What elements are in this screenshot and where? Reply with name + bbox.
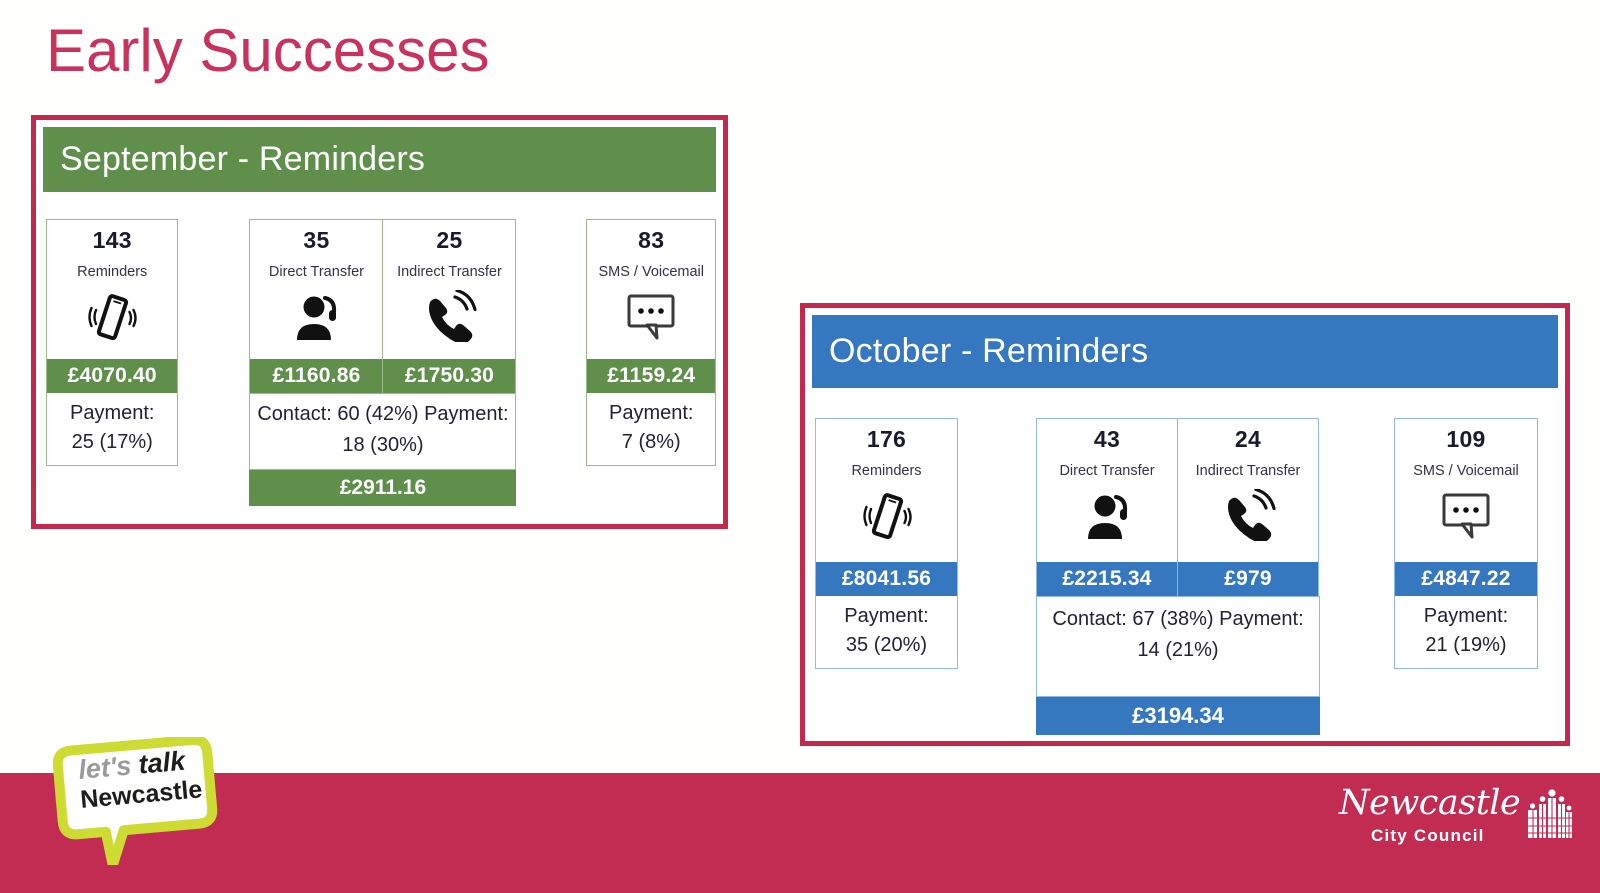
october-reminders-amount: £8041.56 bbox=[816, 562, 957, 596]
october-direct-transfer-label: Direct Transfer bbox=[1059, 463, 1154, 479]
card-top: 25 Indirect Transfer bbox=[383, 220, 515, 359]
card-top: 35 Direct Transfer bbox=[250, 220, 382, 359]
castle-crest-icon bbox=[1526, 788, 1574, 840]
september-sms-card: 83 SMS / Voicemail £1159.24 Payment: 7 (… bbox=[586, 219, 716, 466]
september-direct-transfer-label: Direct Transfer bbox=[269, 264, 364, 280]
september-sms-amount: £1159.24 bbox=[587, 359, 715, 393]
september-sms-count: 83 bbox=[638, 229, 664, 252]
october-sms-card: 109 SMS / Voicemail £4847.22 Payment: 21… bbox=[1394, 418, 1538, 669]
october-direct-transfer-count: 43 bbox=[1094, 428, 1120, 451]
september-reminders-payment: Payment: 25 (17%) bbox=[47, 393, 177, 465]
payment-value: 35 (20%) bbox=[818, 631, 955, 660]
october-reminders-payment: Payment: 35 (20%) bbox=[816, 596, 957, 668]
headset-agent-icon bbox=[1080, 487, 1134, 543]
lets-word: let's bbox=[77, 750, 132, 785]
september-indirect-transfer-amount: £1750.30 bbox=[383, 359, 515, 393]
october-sms-payment: Payment: 21 (19%) bbox=[1395, 596, 1537, 668]
october-indirect-transfer-label: Indirect Transfer bbox=[1196, 463, 1301, 479]
september-sms-payment: Payment: 7 (8%) bbox=[587, 393, 715, 465]
october-card-row: 176 Reminders bbox=[812, 418, 1558, 735]
september-transfer-total: £2911.16 bbox=[249, 470, 516, 506]
october-panel-header: October - Reminders bbox=[812, 315, 1558, 388]
october-transfer-pair: 43 Direct Transfer £2215.34 bbox=[1036, 418, 1320, 597]
headset-agent-icon bbox=[289, 288, 343, 344]
page-title: Early Successes bbox=[46, 18, 490, 84]
october-indirect-transfer-card: 24 Indirect Transfer £ bbox=[1177, 418, 1319, 597]
ringing-handset-icon bbox=[421, 288, 477, 344]
october-sms-label: SMS / Voicemail bbox=[1413, 463, 1519, 479]
newcastle-city-council-logo: Newcastle City Council bbox=[1339, 786, 1574, 856]
lets-talk-text: let's talk Newcastle bbox=[47, 730, 226, 831]
september-indirect-transfer-label: Indirect Transfer bbox=[397, 264, 502, 280]
october-transfer-contact: Contact: 67 (38%) bbox=[1052, 608, 1213, 630]
october-direct-transfer-card: 43 Direct Transfer £2215.34 bbox=[1036, 418, 1178, 597]
october-indirect-transfer-count: 24 bbox=[1235, 428, 1261, 451]
october-sms-amount: £4847.22 bbox=[1395, 562, 1537, 596]
october-header-label: October - Reminders bbox=[829, 332, 1148, 371]
september-panel-header: September - Reminders bbox=[43, 127, 716, 192]
september-reminders-label: Reminders bbox=[77, 264, 147, 280]
october-panel: October - Reminders 176 Reminders bbox=[800, 303, 1570, 746]
october-reminders-card: 176 Reminders bbox=[815, 418, 958, 669]
card-top: 83 SMS / Voicemail bbox=[587, 220, 715, 359]
ringing-handset-icon bbox=[1220, 487, 1276, 543]
september-reminders-count: 143 bbox=[93, 229, 132, 252]
payment-label: Payment: bbox=[818, 602, 955, 631]
council-wordmark: Newcastle bbox=[1339, 786, 1515, 821]
september-indirect-transfer-card: 25 Indirect Transfer £ bbox=[382, 219, 516, 394]
september-header-label: September - Reminders bbox=[60, 140, 425, 179]
card-top: 43 Direct Transfer bbox=[1037, 419, 1177, 562]
card-top: 109 SMS / Voicemail bbox=[1395, 419, 1537, 562]
payment-label: Payment: bbox=[49, 399, 175, 428]
october-direct-transfer-amount: £2215.34 bbox=[1037, 562, 1177, 596]
september-indirect-transfer-count: 25 bbox=[436, 229, 462, 252]
vibrating-phone-icon bbox=[860, 487, 914, 543]
september-direct-transfer-card: 35 Direct Transfer £1160.86 bbox=[249, 219, 383, 394]
october-transfer-group: 43 Direct Transfer £2215.34 bbox=[1036, 418, 1320, 735]
payment-value: 25 (17%) bbox=[49, 428, 175, 457]
september-direct-transfer-count: 35 bbox=[303, 229, 329, 252]
september-reminders-card: 143 Reminders bbox=[46, 219, 178, 466]
september-transfer-stats: Contact: 60 (42%) Payment: 18 (30%) bbox=[249, 393, 516, 470]
october-indirect-transfer-amount: £979 bbox=[1178, 562, 1318, 596]
september-panel: September - Reminders 143 Reminders bbox=[31, 115, 728, 529]
council-subtitle: City Council bbox=[1371, 826, 1485, 846]
october-reminders-count: 176 bbox=[867, 428, 906, 451]
payment-label: Payment: bbox=[1397, 602, 1535, 631]
september-transfer-contact: Contact: 60 (42%) bbox=[257, 403, 418, 425]
card-top: 24 Indirect Transfer bbox=[1178, 419, 1318, 562]
september-direct-transfer-amount: £1160.86 bbox=[250, 359, 382, 393]
payment-value: 21 (19%) bbox=[1397, 631, 1535, 660]
october-transfer-stats: Contact: 67 (38%) Payment: 14 (21%) bbox=[1036, 596, 1320, 697]
card-top: 143 Reminders bbox=[47, 220, 177, 359]
card-top: 176 Reminders bbox=[816, 419, 957, 562]
september-transfer-pair: 35 Direct Transfer £1160.86 bbox=[249, 219, 516, 394]
payment-value: 7 (8%) bbox=[589, 428, 713, 457]
october-sms-count: 109 bbox=[1446, 428, 1485, 451]
october-transfer-total: £3194.34 bbox=[1036, 697, 1320, 735]
september-reminders-amount: £4070.40 bbox=[47, 359, 177, 393]
speech-bubble-icon bbox=[1437, 487, 1495, 543]
talk-word: talk bbox=[137, 746, 186, 780]
october-reminders-label: Reminders bbox=[851, 463, 921, 479]
speech-bubble-icon bbox=[622, 288, 680, 344]
september-sms-label: SMS / Voicemail bbox=[598, 264, 704, 280]
september-transfer-group: 35 Direct Transfer £1160.86 bbox=[249, 219, 516, 506]
lets-talk-newcastle-logo: let's talk Newcastle bbox=[50, 737, 222, 865]
september-card-row: 143 Reminders bbox=[43, 219, 716, 506]
vibrating-phone-icon bbox=[85, 288, 139, 344]
payment-label: Payment: bbox=[589, 399, 713, 428]
